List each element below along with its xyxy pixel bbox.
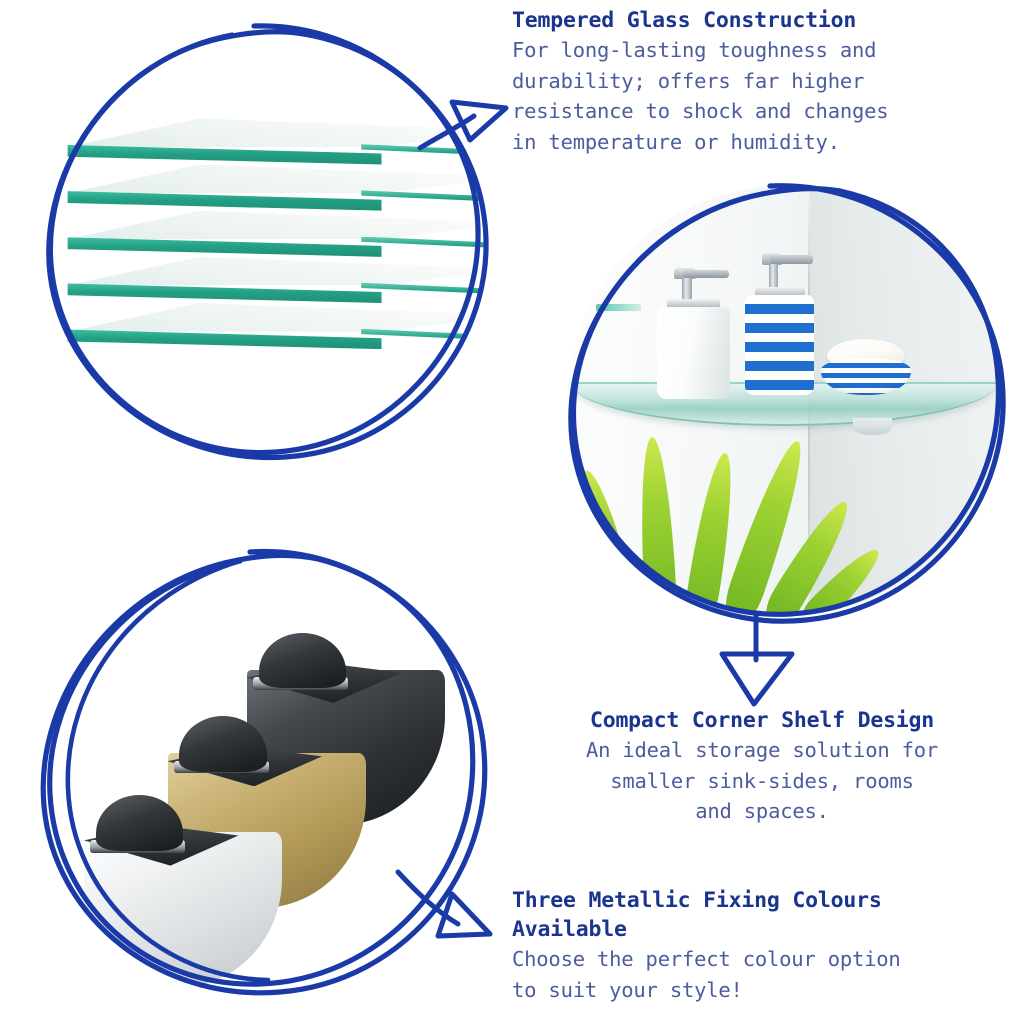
bath-photo-inner <box>568 186 1000 616</box>
glass-panel-stack <box>34 118 486 390</box>
feature-heading: Compact Corner Shelf Design <box>500 706 1024 735</box>
feature-body-line: and spaces. <box>500 796 1024 827</box>
shelf-bracket-colours-photo <box>40 552 480 992</box>
bathroom-corner-shelf-photo <box>568 186 1000 616</box>
bracket-knob <box>259 633 346 688</box>
dispenser-body <box>745 295 814 394</box>
glass-pane-face <box>34 303 486 332</box>
plant-leaf <box>637 436 679 616</box>
glass-pane-face <box>34 165 486 194</box>
glass-photo-inner <box>34 22 486 460</box>
feature-heading: Tempered Glass Construction <box>512 6 1012 35</box>
feature-body-line: resistance to shock and changes <box>512 96 1012 127</box>
glass-pane-face <box>34 211 486 240</box>
feature-body-line: in temperature or humidity. <box>512 127 1012 158</box>
feature-tempered-glass-text: Tempered Glass Construction For long-las… <box>512 6 1012 157</box>
glass-pane-face <box>34 257 486 286</box>
bracket-knob <box>96 795 183 850</box>
feature-body-line: to suit your style! <box>512 975 1012 1006</box>
tempered-glass-stack-photo <box>34 22 486 460</box>
glass-pane <box>34 118 486 164</box>
glass-pane <box>34 165 486 211</box>
glass-pane <box>34 303 486 349</box>
feature-fixing-colours-text: Three Metallic Fixing Colours Available … <box>512 886 1012 1005</box>
infographic-canvas: Tempered Glass Construction For long-las… <box>0 0 1024 1024</box>
feature-heading-line: Three Metallic Fixing Colours <box>512 886 1012 915</box>
glass-pane <box>34 257 486 303</box>
blue-striped-soap-dispenser <box>745 253 814 395</box>
spare-glass-edge-strip <box>596 304 641 310</box>
feature-body-line: durability; offers far higher <box>512 66 1012 97</box>
feature-body-line: smaller sink-sides, rooms <box>500 766 1024 797</box>
dispenser-nozzle <box>683 270 729 278</box>
feature-body-line: Choose the perfect colour option <box>512 944 1012 975</box>
arrow-to-corner-shelf-text <box>700 612 820 712</box>
dispenser-body <box>657 307 730 399</box>
bracket-knob <box>179 716 266 771</box>
bracket-photo-inner <box>40 552 480 992</box>
feature-heading-line: Available <box>512 915 1012 944</box>
feature-corner-shelf-text: Compact Corner Shelf Design An ideal sto… <box>500 706 1024 827</box>
glass-pane-face <box>34 118 486 147</box>
bracket-chrome <box>84 803 282 988</box>
feature-body-line: An ideal storage solution for <box>500 735 1024 766</box>
dispenser-nozzle <box>770 255 813 264</box>
feature-body-line: For long-lasting toughness and <box>512 35 1012 66</box>
glass-pane <box>34 211 486 257</box>
white-soap-dispenser <box>657 268 730 399</box>
green-spider-plant <box>568 427 905 616</box>
shelf-mounting-clip <box>853 418 892 435</box>
